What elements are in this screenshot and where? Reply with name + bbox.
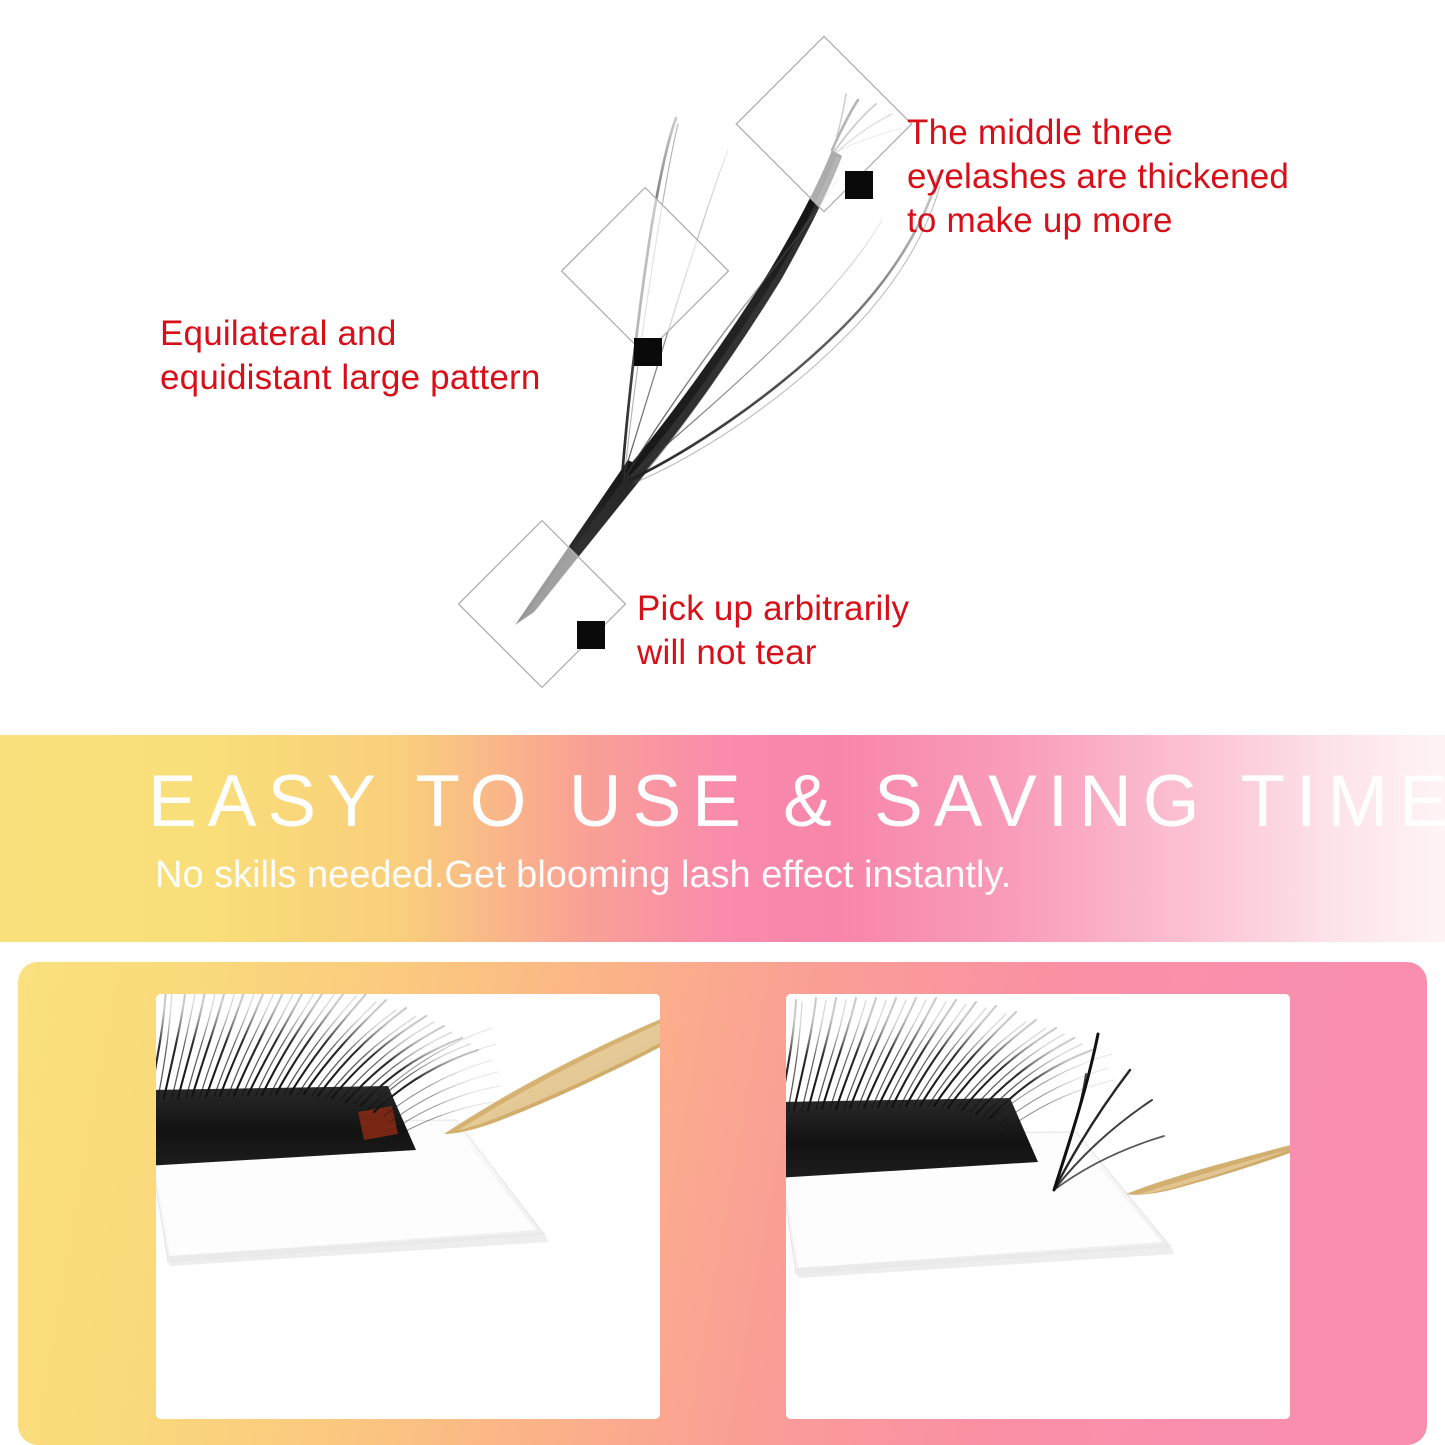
promo-banner-section: EASY TO USE & SAVING TIME No skills need… [0,735,1445,942]
product-photo-section [0,942,1445,1445]
promo-subheadline: No skills needed.Get blooming lash effec… [155,856,1011,894]
photo-panel-gradient-background [18,962,1427,1445]
product-photo-left [156,994,660,1419]
promo-headline: EASY TO USE & SAVING TIME [148,765,1445,838]
diamond-marker-pick-up [459,521,626,688]
feature-diagram-section: The middle three eyelashes are thickened… [0,0,1445,735]
diamond-marker-equilateral [562,188,729,366]
product-photo-right [786,994,1290,1419]
callout-middle-three-label: The middle three eyelashes are thickened… [907,111,1289,243]
callout-pick-up-label: Pick up arbitrarily will not tear [637,587,909,675]
diamond-marker-middle-three [736,36,911,211]
callout-equilateral-label: Equilateral and equidistant large patter… [160,312,541,400]
